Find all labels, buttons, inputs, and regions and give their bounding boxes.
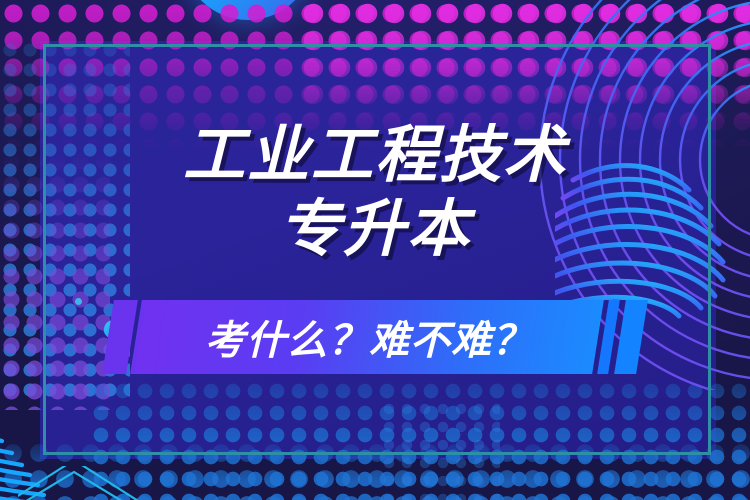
- promo-poster: 工业工程技术 专升本 考什么？难不难？: [0, 0, 750, 500]
- banner-text: 考什么？难不难？: [140, 300, 598, 374]
- banner-right-slash-outer: [614, 300, 648, 374]
- chevron-outline-icon: [18, 466, 218, 500]
- subtitle-banner: 考什么？难不难？: [0, 296, 750, 378]
- decorative-frame: [43, 44, 711, 455]
